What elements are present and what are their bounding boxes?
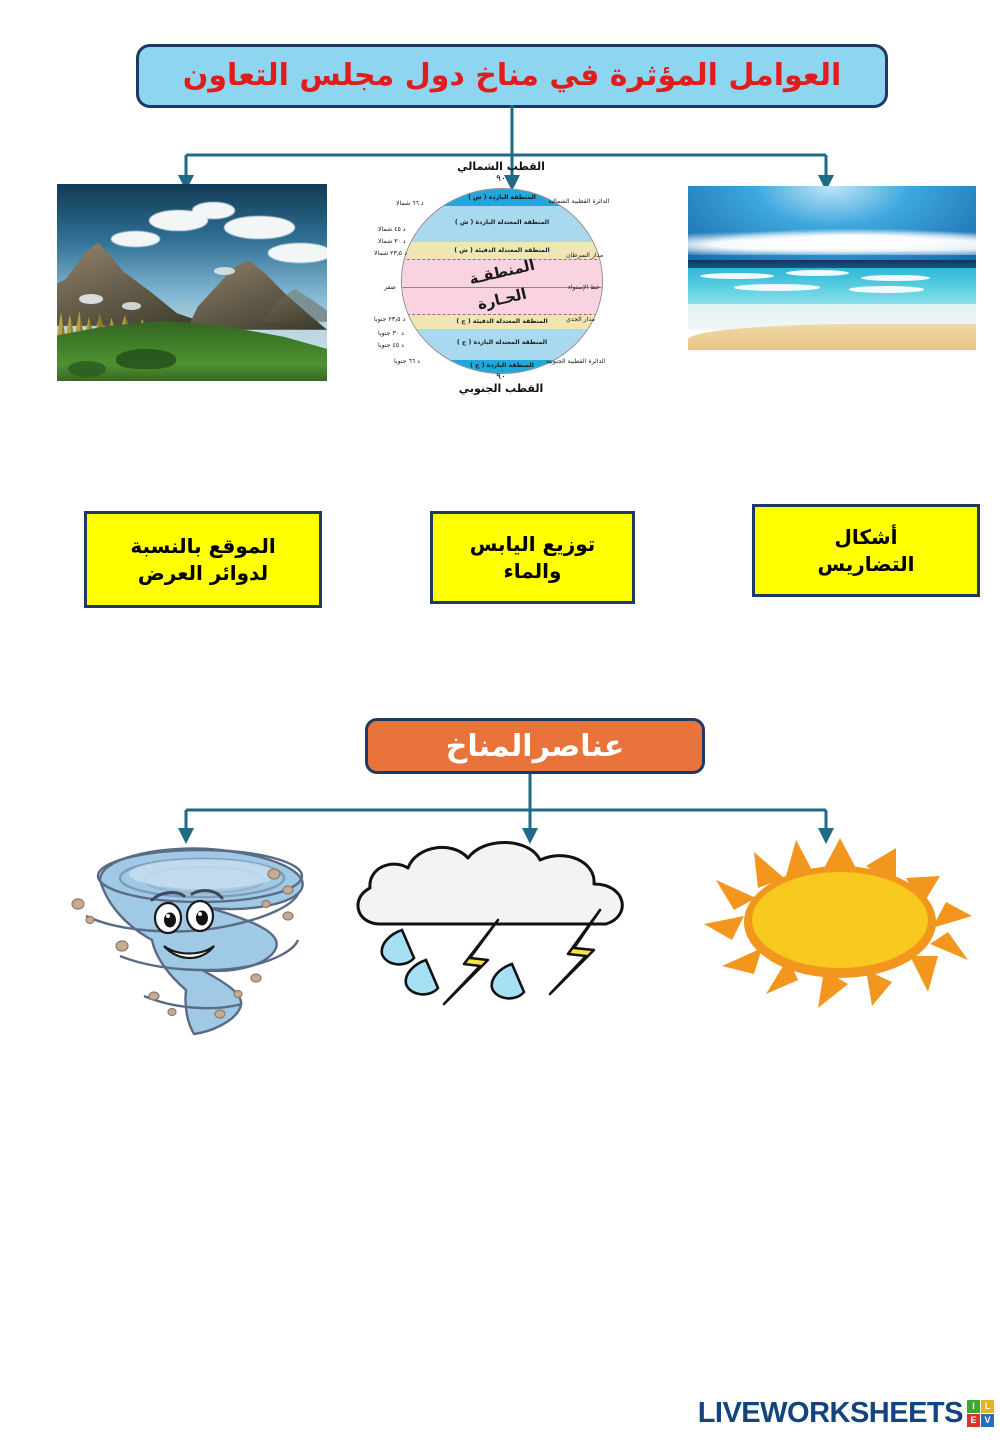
cloud-shape [358,842,622,924]
snow-patch [214,267,236,275]
wave-foam [849,286,924,293]
cloud-shape [268,243,327,263]
globe-left-label-1: د ٤٥ شمالا [378,226,406,233]
snow-patch [79,294,103,304]
climate-elements-title: عناصرالمناخ [446,729,624,764]
globe-left-label-6: د ٣٠ جنوبا [378,330,404,337]
climate-zones-globe: القطب الشمالي ٩٠ المنطقة الباردة ( ش ) ا… [370,160,632,400]
globe-right-label-0: الدائرة القطبية الشمالية [548,198,609,205]
factor-label-line1: الموقع بالنسبة [130,534,275,558]
shrub [68,361,106,377]
mountains-photo [57,184,327,381]
shrub [116,349,175,369]
globe-right-label-2: خط الإستواء [568,284,600,291]
factor-label-line2: والماء [504,559,562,583]
factor-label-line1: توزيع اليابس [470,532,596,556]
climate-elements-banner: عناصرالمناخ [365,718,705,774]
snow-patch [122,302,141,310]
globe-right-label-1: مدار السرطان [566,252,603,259]
zone-label-1: المنطقة المعتدلة الباردة ( ش ) [402,220,602,226]
sun-disc [752,872,928,968]
liveworksheets-logo: L I V E LIVEWORKSHEETS [698,1397,994,1430]
wave-foam [861,275,930,282]
factor-box-landforms[interactable]: أشكال التضاريس [752,504,980,597]
globe-left-label-5: د ٢٣٫٥ جنوبا [374,316,405,323]
factor-label: أشكال التضاريس [817,524,914,578]
globe-left-label-3: د ٢٣٫٥ شمالا [374,250,407,257]
beach-photo [688,186,976,350]
logo-tile-v: V [981,1414,994,1427]
globe-left-label-4: صفر [384,284,396,291]
globe-left-label-2: د ٣٠ شمالا [378,238,406,245]
cloud-shape [224,216,294,240]
wave-foam [786,270,849,277]
rain-lightning-cloud-clipart [340,832,650,1012]
south-pole-label: القطب الجنوبي [370,382,632,395]
south-pole-degree: ٩٠ [370,372,632,382]
factor-box-location-latitude[interactable]: الموقع بالنسبة لدوائر العرض [84,511,322,608]
globe-right-label-4: الدائرة القطبية الجنوبية [546,358,605,365]
globe-left-label-7: د ٤٥ جنوبا [378,342,404,349]
north-pole-label: القطب الشمالي [370,160,632,173]
sun-clipart [700,832,980,1012]
worksheet-title-banner: العوامل المؤثرة في مناخ دول مجلس التعاون [136,44,888,108]
north-pole-degree: ٩٠ [370,174,632,184]
logo-tile-e: E [967,1414,980,1427]
wave-foam [734,284,820,291]
factor-box-land-water-distribution[interactable]: توزيع اليابس والماء [430,511,635,604]
globe-right-label-3: مدار الجدي [566,316,595,323]
raindrop [382,930,524,998]
beach-clouds [688,229,976,255]
logo-tile-l: L [981,1400,994,1413]
logo-tile-i: I [967,1400,980,1413]
globe-left-label-8: د ٦٦ جنوبا [394,358,420,365]
worksheet-title-text: العوامل المؤثرة في مناخ دول مجلس التعاون [183,59,842,94]
factor-label-line2: لدوائر العرض [138,561,268,585]
factor-label: توزيع اليابس والماء [470,531,596,585]
cloud-shape [111,231,160,247]
globe-circle: المنطقة الباردة ( ش ) المنطقة المعتدلة ا… [401,188,603,374]
globe-left-label-0: د ٦٦ شمالا [396,200,424,207]
factor-label-line2: التضاريس [817,552,914,576]
tornado-wind-clipart [60,828,335,1043]
factor-label-line1: أشكال [834,525,897,549]
worksheet-page: العوامل المؤثرة في مناخ دول مجلس التعاون [0,0,1000,1444]
zone-label-4: المنطقة المعتدلة الباردة ( ج ) [402,340,602,346]
factor-label: الموقع بالنسبة لدوائر العرض [130,533,275,587]
logo-tiles: L I V E [967,1400,994,1427]
logo-wordmark: LIVEWORKSHEETS [698,1397,963,1430]
